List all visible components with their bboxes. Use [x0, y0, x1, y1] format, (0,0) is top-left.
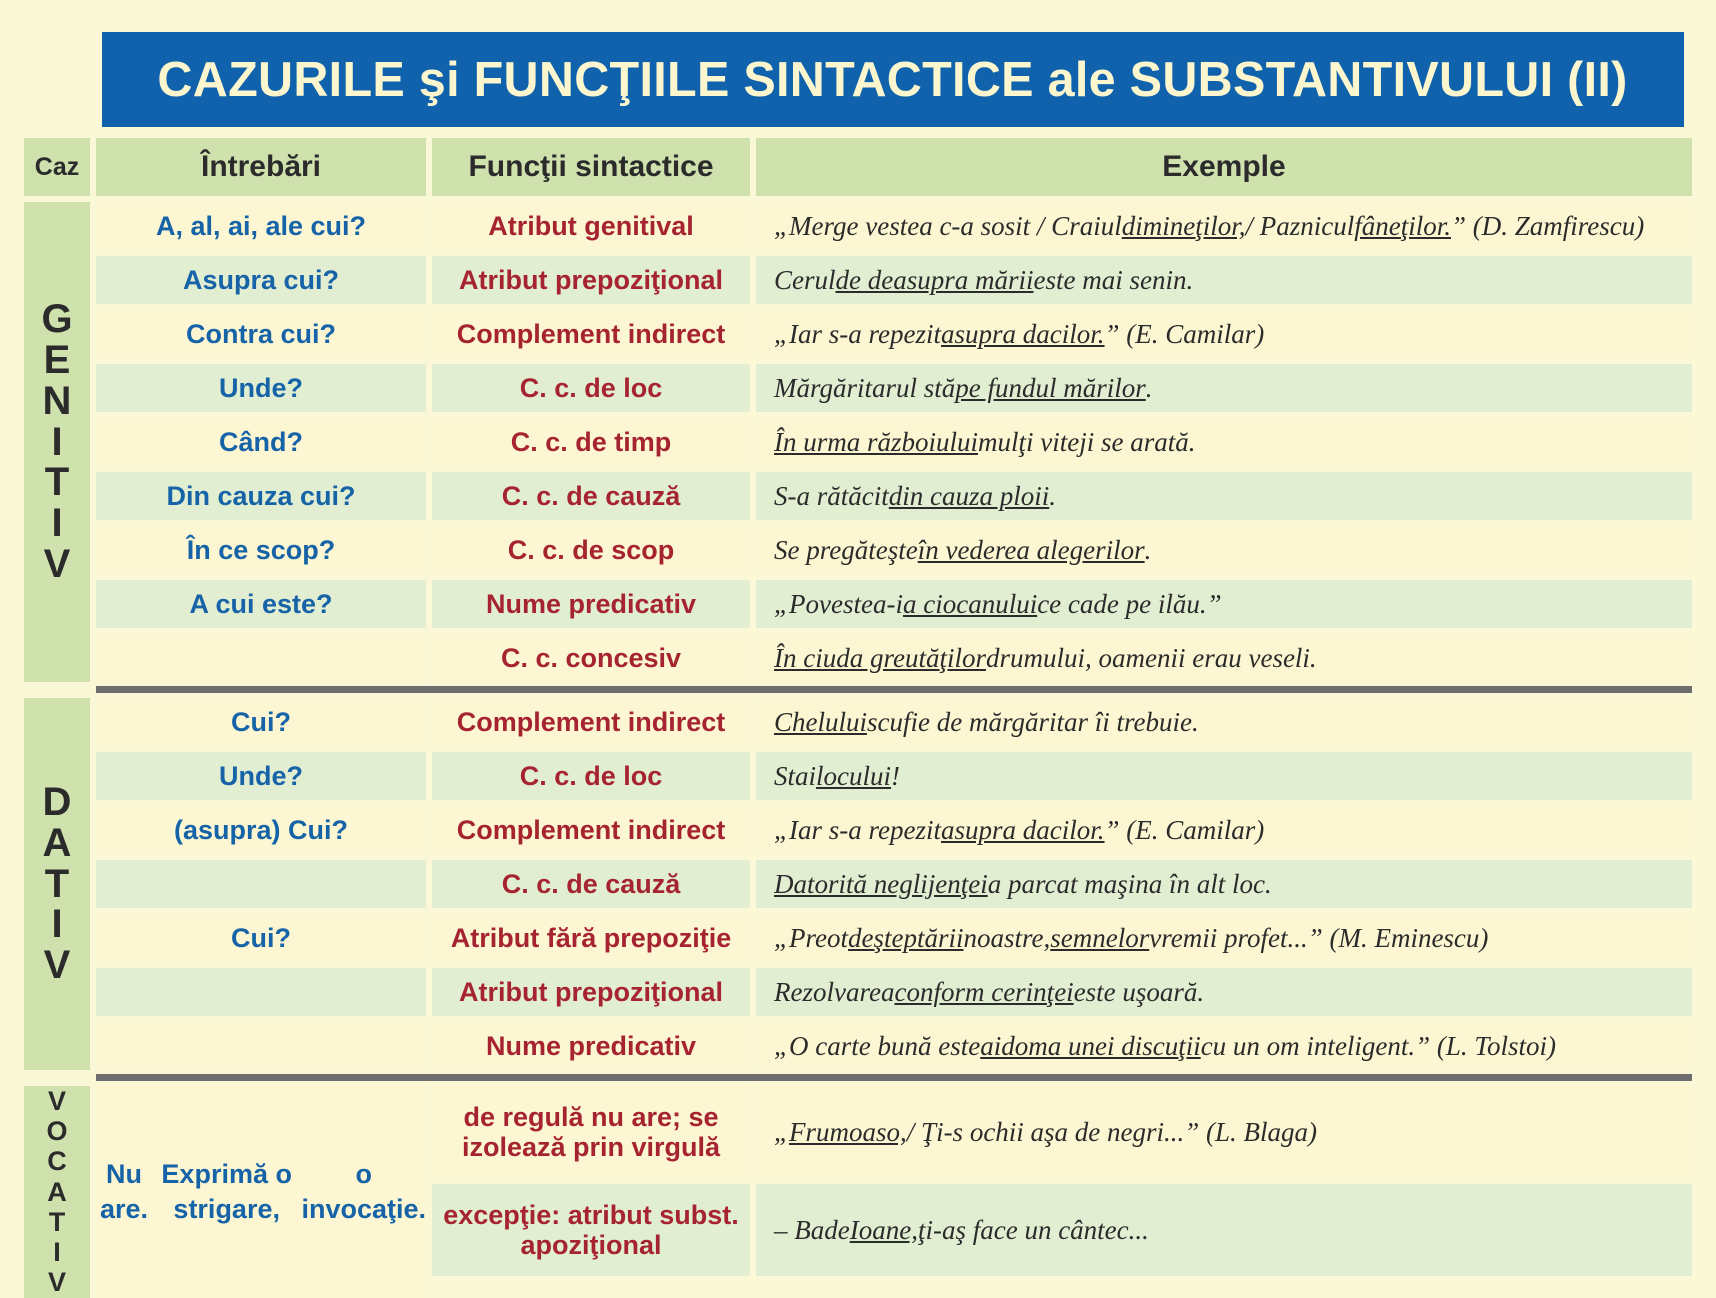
example-cell: Rezolvarea conform cerinţei este uşoară.	[756, 968, 1692, 1016]
function-cell: C. c. de loc	[432, 364, 750, 412]
table-row: (asupra) Cui?Complement indirect„Iar s-a…	[96, 806, 1692, 854]
table-header-row: Caz Întrebări Funcţii sintactice Exemple	[24, 138, 1692, 196]
example-text: „Preot	[774, 923, 848, 954]
underlined-term: fâneţilor.	[1354, 211, 1451, 242]
example-text: „Iar s-a repezit	[774, 815, 941, 846]
question-cell: Unde?	[96, 752, 426, 800]
example-cell: „Merge vestea c-a sosit / Craiul dimineţ…	[756, 202, 1692, 250]
function-cell: de regulă nu are; se izolează prin virgu…	[432, 1086, 750, 1178]
example-text: scufie de mărgăritar îi trebuie.	[867, 707, 1199, 738]
example-cell: – Bade Ioane, ţi-aş face un cântec...	[756, 1184, 1692, 1276]
case-letter: A	[47, 1177, 67, 1207]
question-cell	[96, 860, 426, 908]
underlined-term: Ioane,	[850, 1215, 918, 1246]
case-rows: Cui?Complement indirectChelului scufie d…	[96, 698, 1692, 1070]
example-cell: Se pregăteşte în vederea alegerilor.	[756, 526, 1692, 574]
example-cell: În urma războiului mulţi viteji se arată…	[756, 418, 1692, 466]
underlined-term: deşteptării	[848, 923, 964, 954]
question-line: Nu are.	[96, 1157, 152, 1227]
case-letter: V	[48, 1086, 66, 1116]
case-section-vocativ: VOCATIVNu are.Exprimă o strigare,o invoc…	[24, 1086, 1692, 1298]
function-cell: Nume predicativ	[432, 1022, 750, 1070]
question-cell: În ce scop?	[96, 526, 426, 574]
question-cell: Cui?	[96, 914, 426, 962]
case-letter: V	[44, 945, 71, 986]
table-row: Contra cui?Complement indirect„Iar s-a r…	[96, 310, 1692, 358]
example-text: „Povestea-i	[774, 589, 903, 620]
example-cell: „O carte bună este aidoma unei discuţii …	[756, 1022, 1692, 1070]
table-body: GENITIVA, al, ai, ale cui?Atribut geniti…	[24, 202, 1692, 1298]
question-cell: Cui?	[96, 698, 426, 746]
function-cell: Nume predicativ	[432, 580, 750, 628]
question-cell: Asupra cui?	[96, 256, 426, 304]
page-title: CAZURILE şi FUNCŢIILE SINTACTICE ale SUB…	[158, 52, 1628, 108]
function-cell: C. c. de cauză	[432, 860, 750, 908]
question-cell	[96, 968, 426, 1016]
table-row: Cui?Atribut fără prepoziţie„Preot deştep…	[96, 914, 1692, 962]
question-cell	[96, 634, 426, 682]
example-text: Rezolvarea	[774, 977, 894, 1008]
example-text: ” (E. Camilar)	[1105, 815, 1265, 846]
underlined-term: semnelor	[1050, 923, 1149, 954]
case-label-genitiv: GENITIV	[24, 202, 90, 682]
example-text: drumului, oamenii erau veseli.	[986, 643, 1317, 674]
section-divider	[24, 1070, 1692, 1086]
case-letter: E	[44, 340, 71, 381]
example-text: .	[1049, 481, 1056, 512]
table-row: Din cauza cui?C. c. de cauzăS-a rătăcit …	[96, 472, 1692, 520]
example-cell: „Iar s-a repezit asupra dacilor.” (E. Ca…	[756, 310, 1692, 358]
underlined-term: În ciuda greutăţilor	[774, 643, 986, 674]
table-row: Nume predicativ„O carte bună este aidoma…	[96, 1022, 1692, 1070]
example-text: ” (D. Zamfirescu)	[1451, 211, 1644, 242]
example-text: „	[774, 1117, 789, 1148]
question-line: o invocaţie.	[301, 1157, 426, 1227]
table-row: Unde?C. c. de locMărgăritarul stă pe fun…	[96, 364, 1692, 412]
case-letter: T	[49, 1207, 66, 1237]
example-text: „Iar s-a repezit	[774, 319, 941, 350]
question-cell: Din cauza cui?	[96, 472, 426, 520]
table-row: Cui?Complement indirectChelului scufie d…	[96, 698, 1692, 746]
example-cell: Stai locului!	[756, 752, 1692, 800]
example-text: Cerul	[774, 265, 836, 296]
case-letter: N	[43, 381, 72, 422]
example-text: cu un om inteligent.” (L. Tolstoi)	[1201, 1031, 1556, 1062]
function-cell: Complement indirect	[432, 806, 750, 854]
example-text: .	[1146, 373, 1153, 404]
case-section-genitiv: GENITIVA, al, ai, ale cui?Atribut geniti…	[24, 202, 1692, 682]
case-letter: V	[48, 1267, 66, 1297]
question-cell: (asupra) Cui?	[96, 806, 426, 854]
example-text: !	[891, 761, 900, 792]
merged-question-cell: Nu are.Exprimă o strigare,o invocaţie.	[96, 1086, 426, 1298]
case-letter: D	[43, 782, 72, 823]
function-cell: excepţie: atribut subst. apoziţional	[432, 1184, 750, 1276]
example-cell: „Iar s-a repezit asupra dacilor.” (E. Ca…	[756, 806, 1692, 854]
example-cell: În ciuda greutăţilor drumului, oamenii e…	[756, 634, 1692, 682]
example-cell: Cerul de deasupra mării este mai senin.	[756, 256, 1692, 304]
case-label-vocativ: VOCATIV	[24, 1086, 90, 1298]
poster-page: CAZURILE şi FUNCŢIILE SINTACTICE ale SUB…	[0, 0, 1716, 1218]
case-letter: I	[51, 503, 62, 544]
example-text: Se pregăteşte	[774, 535, 918, 566]
underlined-term: Frumoaso,	[789, 1117, 907, 1148]
case-letter: A	[43, 823, 72, 864]
underlined-term: din cauza ploii	[889, 481, 1050, 512]
example-text: ce cade pe ilău.”	[1037, 589, 1221, 620]
example-text: „O carte bună este	[774, 1031, 980, 1062]
underlined-term: În urma războiului	[774, 427, 978, 458]
underlined-term: dimineţilor,	[1122, 211, 1246, 242]
table-row: de regulă nu are; se izolează prin virgu…	[432, 1086, 1692, 1178]
example-text: mulţi viteji se arată.	[978, 427, 1195, 458]
table-row: excepţie: atribut subst. apoziţional– Ba…	[432, 1184, 1692, 1276]
example-text: / Paznicul	[1245, 211, 1354, 242]
case-letter: T	[45, 462, 69, 503]
case-letter: I	[51, 904, 62, 945]
example-text: Stai	[774, 761, 816, 792]
table-row: Atribut prepoziţionalRezolvarea conform …	[96, 968, 1692, 1016]
function-cell: C. c. de loc	[432, 752, 750, 800]
example-text: a parcat maşina în alt loc.	[988, 869, 1272, 900]
example-cell: „Preot deşteptării noastre, semnelor vre…	[756, 914, 1692, 962]
case-rows: A, al, ai, ale cui?Atribut genitival„Mer…	[96, 202, 1692, 682]
column-header-functions: Funcţii sintactice	[432, 138, 750, 196]
table-row: A, al, ai, ale cui?Atribut genitival„Mer…	[96, 202, 1692, 250]
case-section-dativ: DATIVCui?Complement indirectChelului scu…	[24, 698, 1692, 1070]
question-cell: Contra cui?	[96, 310, 426, 358]
underlined-term: asupra dacilor.	[941, 319, 1105, 350]
function-cell: C. c. concesiv	[432, 634, 750, 682]
example-text: „Merge vestea c-a sosit / Craiul	[774, 211, 1122, 242]
underlined-term: a ciocanului	[903, 589, 1037, 620]
table-row: C. c. concesivÎn ciuda greutăţilor drumu…	[96, 634, 1692, 682]
example-cell: Datorită neglijenţei a parcat maşina în …	[756, 860, 1692, 908]
function-cell: Atribut prepoziţional	[432, 968, 750, 1016]
table-row: Unde?C. c. de locStai locului!	[96, 752, 1692, 800]
function-cell: Atribut prepoziţional	[432, 256, 750, 304]
example-cell: S-a rătăcit din cauza ploii.	[756, 472, 1692, 520]
section-divider	[24, 682, 1692, 698]
question-cell	[96, 1022, 426, 1070]
example-text: ” (E. Camilar)	[1105, 319, 1265, 350]
table-row: În ce scop?C. c. de scopSe pregăteşte în…	[96, 526, 1692, 574]
underlined-term: de deasupra mării	[836, 265, 1034, 296]
function-cell: C. c. de timp	[432, 418, 750, 466]
column-header-examples: Exemple	[756, 138, 1692, 196]
case-letter: O	[46, 1116, 67, 1146]
example-text: – Bade	[774, 1215, 850, 1246]
function-cell: C. c. de cauză	[432, 472, 750, 520]
example-text: Mărgăritarul stă	[774, 373, 955, 404]
question-cell: Unde?	[96, 364, 426, 412]
function-cell: Atribut genitival	[432, 202, 750, 250]
question-cell: Când?	[96, 418, 426, 466]
example-text: noastre,	[964, 923, 1051, 954]
function-cell: C. c. de scop	[432, 526, 750, 574]
case-rows: Nu are.Exprimă o strigare,o invocaţie.de…	[96, 1086, 1692, 1298]
example-text: S-a rătăcit	[774, 481, 889, 512]
underlined-term: în vederea alegerilor	[918, 535, 1145, 566]
case-letter: C	[47, 1146, 67, 1176]
function-cell: Atribut fără prepoziţie	[432, 914, 750, 962]
cases-table: Caz Întrebări Funcţii sintactice Exemple…	[24, 138, 1692, 1298]
table-row: A cui este?Nume predicativ„Povestea-i a …	[96, 580, 1692, 628]
underlined-term: asupra dacilor.	[941, 815, 1105, 846]
underlined-term: locului	[816, 761, 891, 792]
column-header-case: Caz	[24, 138, 90, 196]
table-row: C. c. de cauzăDatorită neglijenţei a par…	[96, 860, 1692, 908]
example-text: .	[1145, 535, 1152, 566]
column-header-questions: Întrebări	[96, 138, 426, 196]
question-line: Exprimă o strigare,	[152, 1157, 302, 1227]
case-letter: T	[45, 864, 69, 905]
case-letter: V	[44, 544, 71, 585]
underlined-term: pe fundul mărilor	[955, 373, 1146, 404]
case-letter: I	[53, 1237, 61, 1267]
example-text: ţi-aş face un cântec...	[918, 1215, 1149, 1246]
vocativ-rows: de regulă nu are; se izolează prin virgu…	[432, 1086, 1692, 1298]
question-cell: A cui este?	[96, 580, 426, 628]
example-text: este mai senin.	[1034, 265, 1194, 296]
underlined-term: Chelului	[774, 707, 867, 738]
underlined-term: conform cerinţei	[894, 977, 1073, 1008]
example-cell: „Povestea-i a ciocanului ce cade pe ilău…	[756, 580, 1692, 628]
example-cell: Mărgăritarul stă pe fundul mărilor.	[756, 364, 1692, 412]
question-cell: A, al, ai, ale cui?	[96, 202, 426, 250]
table-row: Asupra cui?Atribut prepoziţionalCerul de…	[96, 256, 1692, 304]
underlined-term: Datorită neglijenţei	[774, 869, 988, 900]
example-text: vremii profet...” (M. Eminescu)	[1149, 923, 1488, 954]
case-letter: I	[51, 422, 62, 463]
underlined-term: aidoma unei discuţii	[980, 1031, 1200, 1062]
example-cell: „Frumoaso, / Ţi-s ochii aşa de negri...”…	[756, 1086, 1692, 1178]
title-banner: CAZURILE şi FUNCŢIILE SINTACTICE ale SUB…	[102, 32, 1684, 127]
example-cell: Chelului scufie de mărgăritar îi trebuie…	[756, 698, 1692, 746]
case-label-dativ: DATIV	[24, 698, 90, 1070]
table-row: Când?C. c. de timpÎn urma războiului mul…	[96, 418, 1692, 466]
function-cell: Complement indirect	[432, 698, 750, 746]
function-cell: Complement indirect	[432, 310, 750, 358]
case-letter: G	[41, 299, 72, 340]
example-text: este uşoară.	[1074, 977, 1205, 1008]
example-text: / Ţi-s ochii aşa de negri...” (L. Blaga)	[907, 1117, 1317, 1148]
